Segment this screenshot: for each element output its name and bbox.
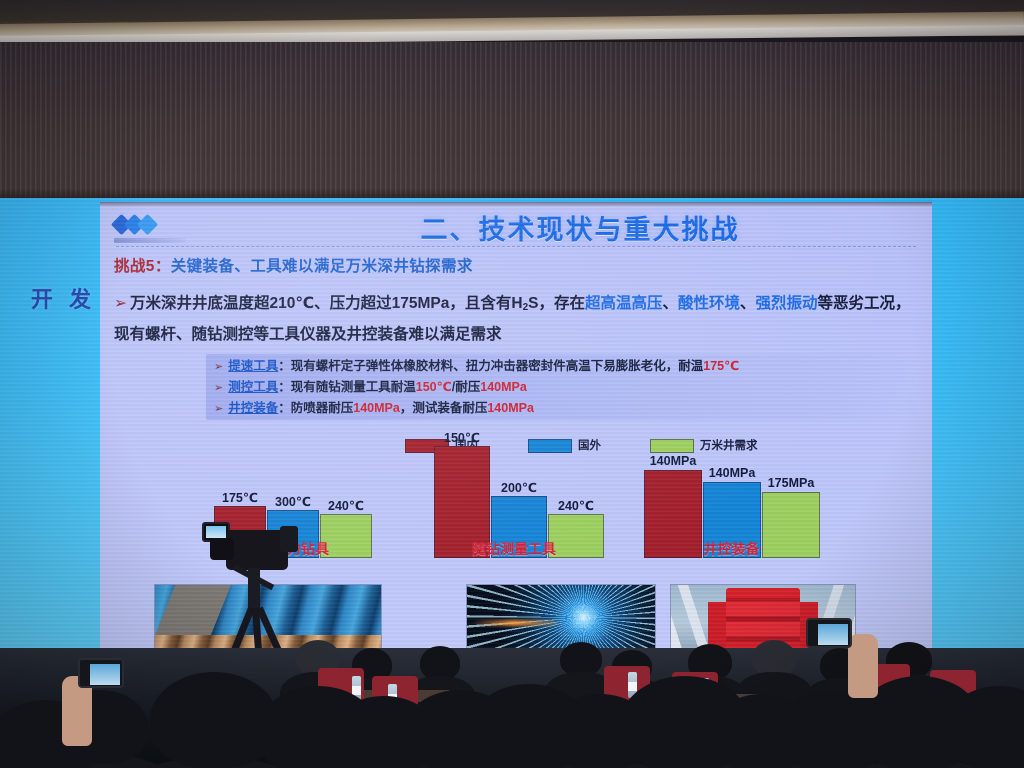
challenge-prefix: 挑战5： <box>114 258 171 275</box>
sub-arrow-icon: ➢ <box>214 403 223 415</box>
sub-row-text-b: /耐压 <box>452 380 480 394</box>
bar-value-label: 150℃ <box>444 430 480 445</box>
sub-row-text-a: 现有随钻测量工具耐温 <box>291 380 416 394</box>
bullet-highlight-3: 强烈振动 <box>756 295 818 312</box>
sub-row-value-a: 150℃ <box>416 380 452 394</box>
bar-value-label: 175MPa <box>768 476 815 490</box>
audience-head <box>420 646 460 680</box>
sub-row-value-a: 140MPa <box>353 401 400 415</box>
bar-group-label: 井控装备 <box>644 539 819 559</box>
sub-arrow-icon: ➢ <box>214 382 223 394</box>
bar-group: 140MPa140MPa175MPa井控装备 <box>644 440 819 558</box>
sub-row-text-a: 防喷器耐压 <box>291 401 354 415</box>
bar-value-label: 240℃ <box>558 498 594 513</box>
smartphone <box>806 618 852 648</box>
sub-row-value-a: 175℃ <box>703 359 739 373</box>
bar-value-label: 140MPa <box>650 454 697 468</box>
bullet-seg4: 、 <box>740 295 756 312</box>
sub-row-text-b: ，测试装备耐压 <box>400 401 488 415</box>
sub-row-key: 测控工具 <box>228 380 278 394</box>
sub-row-colon: ： <box>278 359 291 373</box>
sub-bullet-panel: ➢提速工具：现有螺杆定子弹性体橡胶材料、扭力冲击器密封件高温下易膨胀老化，耐温1… <box>206 354 914 420</box>
sub-bullet-row: ➢提速工具：现有螺杆定子弹性体橡胶材料、扭力冲击器密封件高温下易膨胀老化，耐温1… <box>214 356 908 377</box>
title-divider <box>116 246 916 247</box>
smartphone <box>78 658 124 688</box>
slide-title: 二、技术现状与重大挑战 <box>280 208 880 247</box>
bar-value-label: 175℃ <box>222 490 258 505</box>
bullet-highlight-2: 酸性环境 <box>678 295 740 312</box>
challenge-text: 关键装备、工具难以满足万米深井钻探需求 <box>171 258 473 275</box>
side-banner-text: 开 发 <box>0 283 100 317</box>
sub-bullet-row: ➢井控装备：防喷器耐压140MPa，测试装备耐压140MPa <box>214 398 908 419</box>
sub-row-text-a: 现有螺杆定子弹性体橡胶材料、扭力冲击器密封件高温下易膨胀老化，耐温 <box>291 359 704 373</box>
sub-row-colon: ： <box>278 401 291 415</box>
sub-row-colon: ： <box>278 380 291 394</box>
audience-head <box>560 642 602 676</box>
three-diamonds-logo <box>112 214 176 236</box>
bar-group-label: 随钻测量工具 <box>434 539 594 559</box>
sub-bullet-row: ➢测控工具：现有随钻测量工具耐温150℃/耐压140MPa <box>214 377 908 398</box>
audience-head <box>752 640 796 676</box>
sub-row-key: 提速工具 <box>228 359 278 373</box>
diamond-icon <box>137 214 158 235</box>
bar-value-label: 140MPa <box>709 466 756 480</box>
bullet-seg1: 万米深井井底温度超210℃、压力超过175MPa，且含有H <box>130 295 523 312</box>
hand <box>848 634 878 698</box>
sub-row-value-b: 140MPa <box>487 401 534 415</box>
sub-row-key: 井控装备 <box>228 401 278 415</box>
bullet-highlight-1: 超高温高压 <box>585 295 663 312</box>
bullet-seg3: 、 <box>662 295 678 312</box>
slide-top-shadow <box>100 202 932 207</box>
main-bullet: ➢万米深井井底温度超210℃、压力超过175MPa，且含有H2S，存在超高温高压… <box>114 290 920 348</box>
camera-lens <box>210 538 234 560</box>
logo-subtext-bar <box>114 238 186 243</box>
bullet-arrow-icon: ➢ <box>114 295 127 312</box>
stage-curtain <box>0 42 1024 210</box>
led-screen-right-panel <box>932 198 1024 660</box>
camera-hood <box>280 526 298 552</box>
sub-row-value-b: 140MPa <box>480 380 527 394</box>
bar-value-label: 200℃ <box>501 480 537 495</box>
bar-value-label: 300℃ <box>275 494 311 509</box>
screenshot-root: 开 发 二、技术现状与重大挑战 挑战5：关键装备、工具难以满足万米深井钻探需求 … <box>0 0 1024 768</box>
challenge-heading: 挑战5：关键装备、工具难以满足万米深井钻探需求 <box>114 254 914 276</box>
bar-value-label: 240℃ <box>328 498 364 513</box>
bar-group: 150℃200℃240℃随钻测量工具 <box>434 440 594 558</box>
bullet-seg2: S，存在 <box>528 295 585 312</box>
sub-arrow-icon: ➢ <box>214 361 223 373</box>
